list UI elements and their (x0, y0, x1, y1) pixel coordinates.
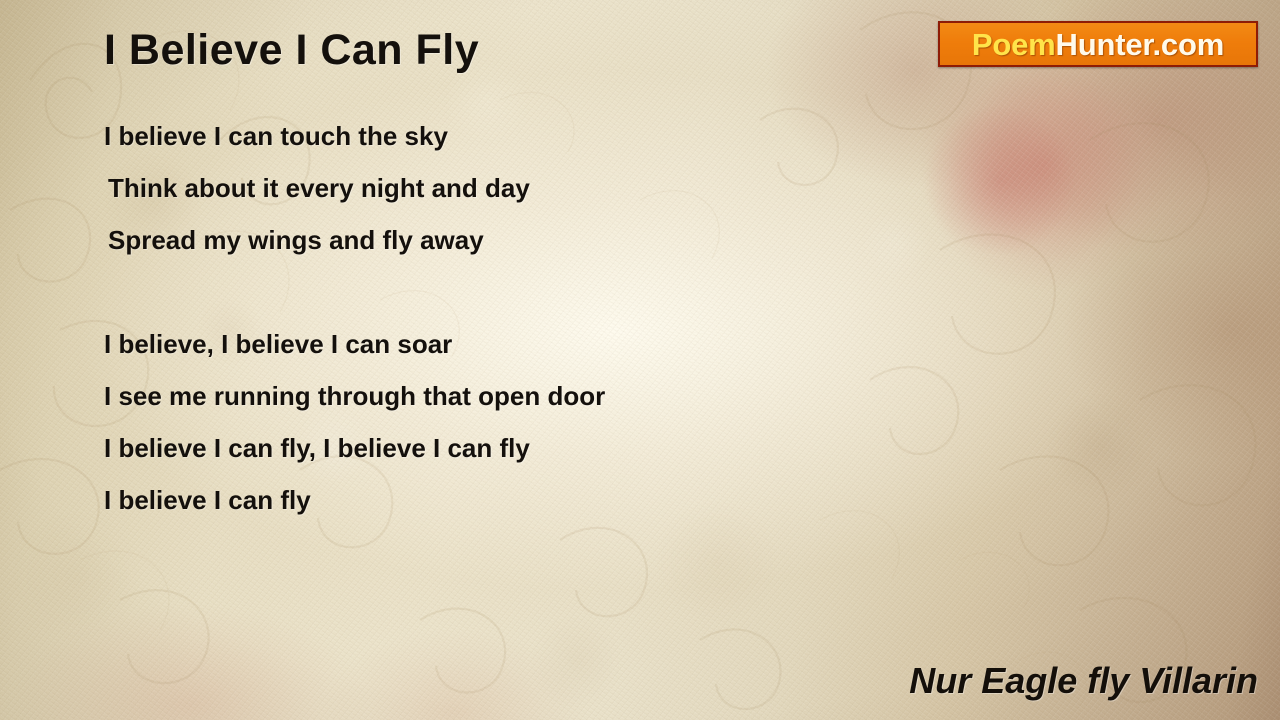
poem-stanza-2: I believe, I believe I can soar I see me… (104, 318, 605, 526)
poem-line: I believe, I believe I can soar (104, 318, 605, 370)
poem-image-card: I Believe I Can Fly I believe I can touc… (0, 0, 1280, 720)
poem-line: I believe I can fly, I believe I can fly (104, 422, 605, 474)
poem-title: I Believe I Can Fly (104, 26, 479, 75)
poem-line: Spread my wings and fly away (104, 214, 530, 266)
site-logo-text-secondary: Hunter.com (1056, 27, 1225, 62)
poem-line: Think about it every night and day (104, 162, 530, 214)
poem-line: I believe I can touch the sky (104, 110, 530, 162)
poem-line: I believe I can fly (104, 474, 605, 526)
poem-content: I Believe I Can Fly I believe I can touc… (0, 0, 1280, 720)
poem-line: I see me running through that open door (104, 370, 605, 422)
site-logo-text: PoemHunter.com (972, 29, 1224, 60)
site-logo-text-primary: Poem (972, 27, 1056, 62)
poem-stanza-1: I believe I can touch the sky Think abou… (104, 110, 530, 266)
poem-author: Nur Eagle fly Villarin (909, 660, 1258, 702)
poemhunter-logo[interactable]: PoemHunter.com (938, 21, 1258, 67)
